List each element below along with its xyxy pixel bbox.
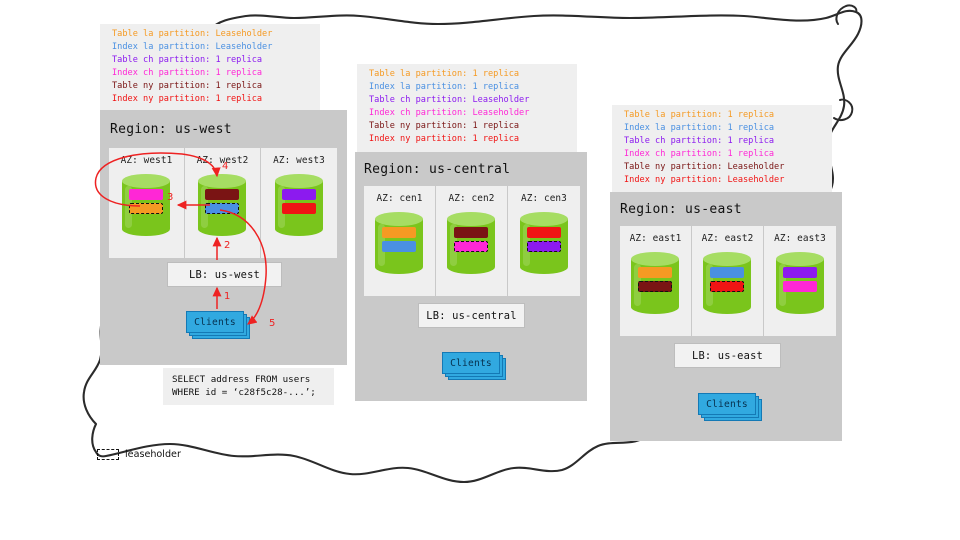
az-label: AZ: east1 bbox=[630, 233, 682, 244]
availability-zone[interactable]: AZ: east3 bbox=[764, 226, 836, 336]
partition-info-line: Index ny partition: Leaseholder bbox=[624, 174, 824, 187]
step-number-3: 3 bbox=[167, 192, 173, 203]
database-cylinder-icon[interactable] bbox=[198, 174, 246, 236]
sql-query-box: SELECT address FROM users WHERE id = ‘c2… bbox=[163, 368, 334, 405]
availability-zone[interactable]: AZ: west3 bbox=[261, 148, 337, 258]
region-title-us-west: Region: us-west bbox=[110, 122, 232, 137]
range-replica bbox=[710, 267, 744, 278]
partition-info-line: Index ny partition: 1 replica bbox=[369, 133, 569, 146]
database-cylinder-icon[interactable] bbox=[375, 212, 423, 274]
partition-info-line: Table la partition: 1 replica bbox=[624, 109, 824, 122]
partition-info-line: Table ny partition: 1 replica bbox=[369, 120, 569, 133]
range-replica bbox=[783, 267, 817, 278]
step-number-4: 4 bbox=[222, 161, 228, 172]
range-replica bbox=[282, 189, 316, 200]
partition-info-line: Table ch partition: Leaseholder bbox=[369, 94, 569, 107]
sql-line-1: SELECT address FROM users bbox=[172, 374, 310, 385]
clients-label: Clients bbox=[186, 311, 244, 333]
partition-info-us-east: Table la partition: 1 replicaIndex la pa… bbox=[612, 105, 832, 193]
cylinder-top bbox=[520, 212, 568, 226]
partition-info-us-west: Table la partition: LeaseholderIndex la … bbox=[100, 24, 320, 112]
step-number-1: 1 bbox=[224, 291, 230, 302]
range-stack bbox=[198, 189, 246, 214]
partition-info-line: Index ch partition: 1 replica bbox=[624, 148, 824, 161]
partition-info-line: Table ny partition: 1 replica bbox=[112, 80, 312, 93]
az-label: AZ: cen3 bbox=[521, 193, 567, 204]
database-cylinder-icon[interactable] bbox=[447, 212, 495, 274]
range-replica bbox=[129, 189, 163, 200]
database-cylinder-icon[interactable] bbox=[122, 174, 170, 236]
partition-info-line: Table ny partition: Leaseholder bbox=[624, 161, 824, 174]
range-replica bbox=[382, 227, 416, 238]
range-stack bbox=[703, 267, 751, 292]
range-replica bbox=[638, 267, 672, 278]
partition-info-line: Index ch partition: Leaseholder bbox=[369, 107, 569, 120]
clients-us-east[interactable]: Clients bbox=[698, 393, 760, 417]
database-cylinder-icon[interactable] bbox=[631, 252, 679, 314]
load-balancer-us-west[interactable]: LB: us-west bbox=[167, 262, 282, 287]
clients-us-west[interactable]: Clients bbox=[186, 311, 248, 335]
range-stack bbox=[631, 267, 679, 292]
availability-zone[interactable]: AZ: east2 bbox=[692, 226, 764, 336]
range-replica bbox=[783, 281, 817, 292]
database-cylinder-icon[interactable] bbox=[520, 212, 568, 274]
clients-label: Clients bbox=[698, 393, 756, 415]
partition-info-line: Index ny partition: 1 replica bbox=[112, 93, 312, 106]
availability-zone[interactable]: AZ: cen2 bbox=[436, 186, 508, 296]
region-title-us-east: Region: us-east bbox=[620, 202, 742, 217]
region-title-us-central: Region: us-central bbox=[364, 162, 510, 177]
partition-info-line: Index ch partition: 1 replica bbox=[112, 67, 312, 80]
partition-info-line: Table ch partition: 1 replica bbox=[624, 135, 824, 148]
range-stack bbox=[375, 227, 423, 252]
partition-info-line: Index la partition: Leaseholder bbox=[112, 41, 312, 54]
range-replica-leaseholder bbox=[710, 281, 744, 292]
leaseholder-key: leaseholder bbox=[97, 449, 181, 460]
load-balancer-us-central[interactable]: LB: us-central bbox=[418, 303, 525, 328]
partition-info-line: Index la partition: 1 replica bbox=[624, 122, 824, 135]
az-label: AZ: west3 bbox=[273, 155, 325, 166]
range-stack bbox=[275, 189, 323, 214]
availability-zone[interactable]: AZ: cen3 bbox=[508, 186, 580, 296]
az-label: AZ: east3 bbox=[774, 233, 826, 244]
availability-zone[interactable]: AZ: cen1 bbox=[364, 186, 436, 296]
partition-info-line: Index la partition: 1 replica bbox=[369, 81, 569, 94]
range-replica bbox=[382, 241, 416, 252]
range-stack bbox=[447, 227, 495, 252]
range-replica-leaseholder bbox=[205, 203, 239, 214]
load-balancer-us-east[interactable]: LB: us-east bbox=[674, 343, 781, 368]
range-stack bbox=[122, 189, 170, 214]
range-replica bbox=[282, 203, 316, 214]
range-replica-leaseholder bbox=[527, 241, 561, 252]
cylinder-top bbox=[275, 174, 323, 188]
az-row-us-central: AZ: cen1AZ: cen2AZ: cen3 bbox=[364, 186, 580, 296]
cylinder-top bbox=[776, 252, 824, 266]
clients-us-central[interactable]: Clients bbox=[442, 352, 504, 376]
range-replica-leaseholder bbox=[129, 203, 163, 214]
az-label: AZ: cen2 bbox=[448, 193, 494, 204]
database-cylinder-icon[interactable] bbox=[776, 252, 824, 314]
range-stack bbox=[520, 227, 568, 252]
az-label: AZ: west1 bbox=[121, 155, 173, 166]
dashed-box-icon bbox=[97, 449, 119, 460]
availability-zone[interactable]: AZ: east1 bbox=[620, 226, 692, 336]
range-replica bbox=[205, 189, 239, 200]
step-number-2: 2 bbox=[224, 240, 230, 251]
availability-zone[interactable]: AZ: west1 bbox=[109, 148, 185, 258]
range-stack bbox=[776, 267, 824, 292]
partition-info-line: Table la partition: Leaseholder bbox=[112, 28, 312, 41]
range-replica bbox=[527, 227, 561, 238]
az-label: AZ: east2 bbox=[702, 233, 754, 244]
az-label: AZ: cen1 bbox=[377, 193, 423, 204]
clients-label: Clients bbox=[442, 352, 500, 374]
database-cylinder-icon[interactable] bbox=[275, 174, 323, 236]
partition-info-line: Table la partition: 1 replica bbox=[369, 68, 569, 81]
sql-line-2: WHERE id = ‘c28f5c28-...’; bbox=[172, 387, 316, 398]
az-row-us-east: AZ: east1AZ: east2AZ: east3 bbox=[620, 226, 836, 336]
range-replica-leaseholder bbox=[638, 281, 672, 292]
partition-info-line: Table ch partition: 1 replica bbox=[112, 54, 312, 67]
partition-info-us-central: Table la partition: 1 replicaIndex la pa… bbox=[357, 64, 577, 152]
database-cylinder-icon[interactable] bbox=[703, 252, 751, 314]
range-replica-leaseholder bbox=[454, 241, 488, 252]
step-number-5: 5 bbox=[269, 318, 275, 329]
leaseholder-key-label: leaseholder bbox=[125, 449, 181, 460]
range-replica bbox=[454, 227, 488, 238]
diagram-canvas: Table la partition: LeaseholderIndex la … bbox=[0, 0, 960, 540]
